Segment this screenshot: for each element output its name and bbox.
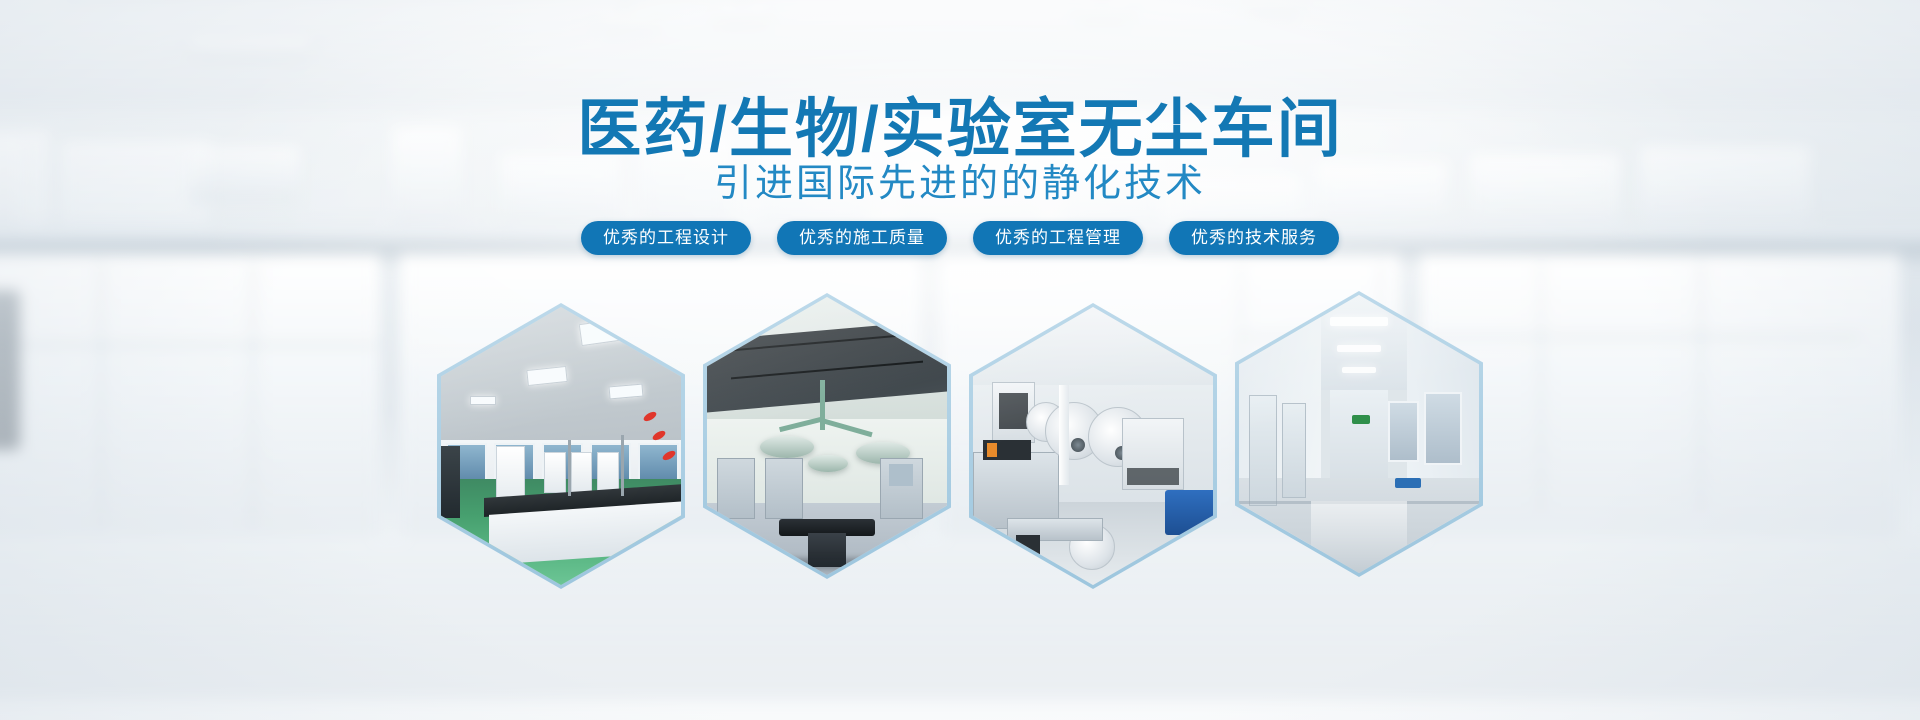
web-material <box>1059 385 1069 485</box>
hexagon-item-operating-room[interactable] <box>703 293 951 579</box>
badge-technical-service[interactable]: 优秀的技术服务 <box>1169 221 1339 255</box>
scene-operating-room <box>707 297 947 575</box>
indicator <box>987 443 997 457</box>
ceiling-light <box>608 383 643 399</box>
badge-project-management[interactable]: 优秀的工程管理 <box>973 221 1143 255</box>
roll-hub <box>1071 438 1085 452</box>
hexagon-item-production-line[interactable] <box>969 303 1217 589</box>
door <box>1249 395 1278 506</box>
table-shadow <box>774 558 880 569</box>
banner-content: 医药/生物/实验室无尘车间 引进国际先进的的静化技术 优秀的工程设计 优秀的施工… <box>0 0 1920 720</box>
badge-list: 优秀的工程设计 优秀的施工质量 优秀的工程管理 优秀的技术服务 <box>0 221 1920 255</box>
fume-hood <box>441 446 460 518</box>
hexagon-image-production-line <box>973 307 1213 585</box>
wall-sign <box>1395 478 1421 488</box>
hexagon-image-laboratory <box>441 307 681 585</box>
ceiling-light <box>470 396 496 405</box>
scene-laboratory <box>441 307 681 585</box>
hexagon-gallery <box>0 293 1920 589</box>
hero-banner: 医药/生物/实验室无尘车间 引进国际先进的的静化技术 优秀的工程设计 优秀的施工… <box>0 0 1920 720</box>
hexagon-image-corridor <box>1239 295 1479 573</box>
storage-cabinet <box>597 452 619 494</box>
exit-sign <box>1352 415 1370 424</box>
scene-corridor <box>1239 295 1479 573</box>
hexagon-item-corridor[interactable] <box>1235 291 1483 577</box>
hexagon-image-operating-room <box>707 297 947 575</box>
badge-construction-quality[interactable]: 优秀的施工质量 <box>777 221 947 255</box>
hexagon-item-laboratory[interactable] <box>437 303 685 589</box>
surgical-light <box>760 436 814 458</box>
banner-subtitle: 引进国际先进的的静化技术 <box>0 152 1920 207</box>
floor-reflection <box>1311 501 1407 573</box>
badge-engineering-design[interactable]: 优秀的工程设计 <box>581 221 751 255</box>
storage-cabinet <box>571 452 593 494</box>
equipment-slot <box>1127 468 1180 485</box>
faucet-pole <box>621 435 624 496</box>
end-wall <box>1330 390 1388 490</box>
scene-production-line <box>973 307 1213 585</box>
ceiling-light <box>1342 367 1376 373</box>
panel <box>889 464 913 486</box>
viewing-window <box>1388 401 1419 462</box>
ceiling-light <box>1330 317 1388 326</box>
control-screen <box>999 393 1028 429</box>
storage-cabinet <box>544 452 566 494</box>
ceiling <box>973 307 1213 390</box>
faucet-pole <box>568 440 571 496</box>
door <box>1282 403 1306 498</box>
machine-leg <box>1016 535 1040 568</box>
blue-bin <box>1165 490 1213 534</box>
ceiling-light <box>1337 345 1380 352</box>
door <box>717 458 755 519</box>
door <box>765 458 803 519</box>
viewing-window <box>1424 392 1462 464</box>
